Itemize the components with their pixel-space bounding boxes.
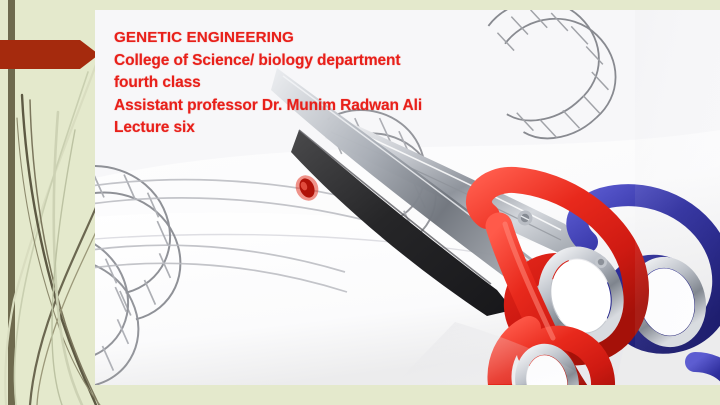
slide-canvas: GENETIC ENGINEERING College of Science/ … — [0, 0, 720, 405]
title-line-5: Lecture six — [114, 117, 514, 140]
title-line-1: GENETIC ENGINEERING — [114, 27, 514, 50]
title-line-4: Assistant professor Dr. Munim Radwan Ali — [114, 95, 514, 118]
title-line-3: fourth class — [114, 72, 514, 95]
scissors-pivot-screw-2-icon — [595, 256, 607, 268]
title-block: GENETIC ENGINEERING College of Science/ … — [114, 27, 514, 140]
title-line-2: College of Science/ biology department — [114, 50, 514, 73]
scissors-pivot-screw-icon — [518, 211, 533, 226]
red-arrow-banner — [0, 40, 99, 69]
